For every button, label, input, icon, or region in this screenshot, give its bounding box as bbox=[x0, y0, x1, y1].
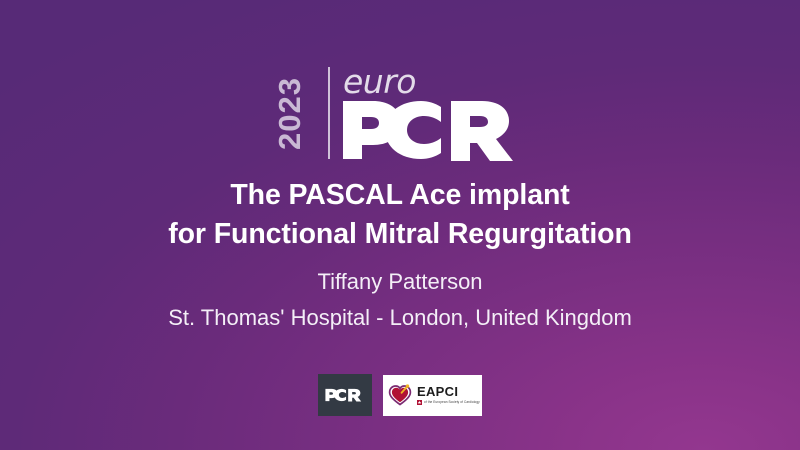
logo-wordmark-group: euro bbox=[341, 65, 531, 161]
logo-year-2023: 2023 bbox=[274, 77, 305, 150]
presenter-info: Tiffany Patterson St. Thomas' Hospital -… bbox=[0, 266, 800, 333]
title-line-2: for Functional Mitral Regurgitation bbox=[0, 215, 800, 254]
eapci-label: EAPCI bbox=[417, 385, 480, 398]
presenter-name: Tiffany Patterson bbox=[0, 266, 800, 297]
logo-euro-text: euro bbox=[343, 65, 416, 98]
presentation-title-slide: 2023 euro The PASCAL Ace implant for Fun… bbox=[0, 0, 800, 450]
heart-icon bbox=[388, 383, 412, 407]
title-line-1: The PASCAL Ace implant bbox=[0, 176, 800, 215]
eapci-text-group: EAPCI of the European Society of Cardiol… bbox=[417, 385, 480, 405]
eapci-esc-tagline: of the European Society of Cardiology bbox=[424, 401, 480, 405]
presenter-affiliation: St. Thomas' Hospital - London, United Ki… bbox=[0, 302, 800, 333]
footer-logo-row: EAPCI of the European Society of Cardiol… bbox=[0, 374, 800, 416]
esc-logo-icon bbox=[417, 400, 422, 405]
eapci-logo-badge: EAPCI of the European Society of Cardiol… bbox=[383, 375, 482, 416]
europcr-logo: 2023 euro bbox=[0, 58, 800, 168]
eapci-tagline-row: of the European Society of Cardiology bbox=[417, 400, 480, 405]
slide-title: The PASCAL Ace implant for Functional Mi… bbox=[0, 176, 800, 255]
logo-pcr-wordmark bbox=[341, 99, 531, 161]
logo-divider bbox=[328, 67, 330, 159]
pcr-logo-badge bbox=[318, 374, 372, 416]
